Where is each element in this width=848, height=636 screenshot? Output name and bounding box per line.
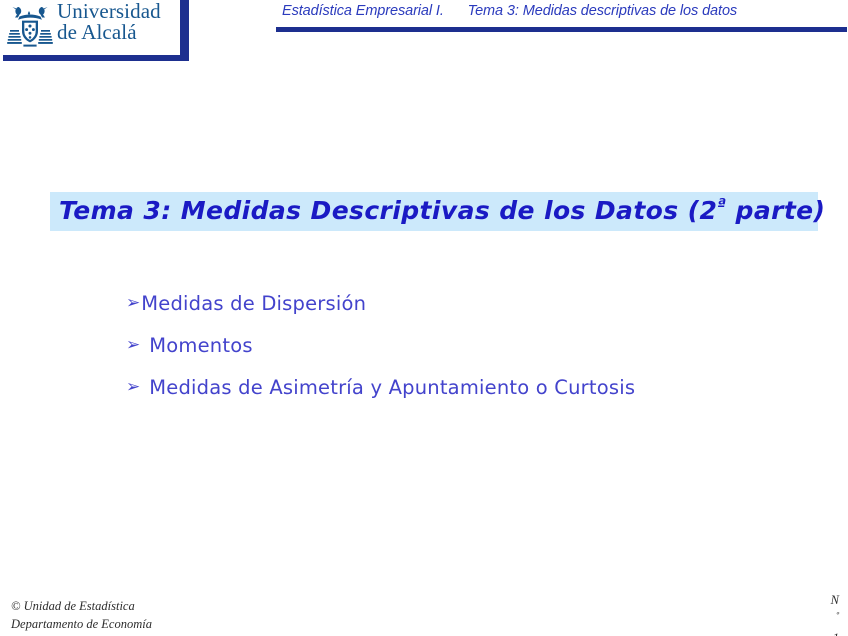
logo-accent-bar-horizontal [3, 55, 189, 61]
list-item: ➢ Medidas de Dispersión [126, 292, 786, 334]
list-item-label: Medidas de Asimetría y Apuntamiento o Cu… [140, 376, 635, 400]
university-name-line1: Universidad [57, 1, 183, 22]
arrow-bullet-icon: ➢ [126, 334, 140, 357]
footer-meta: Nº 1 2/7/2017 [795, 591, 839, 636]
header-topic-label: Tema 3: Medidas descriptivas de los dato… [468, 3, 737, 19]
university-name-line2: de Alcalá [57, 22, 183, 43]
list-item-label: Momentos [140, 334, 252, 358]
page-number-prefix: N [795, 591, 839, 610]
page-title-suffix: parte) [726, 196, 825, 225]
list-item: ➢ Medidas de Asimetría y Apuntamiento o … [126, 376, 786, 418]
page-number: Nº 1 [795, 591, 839, 636]
university-wordmark: Universidad de Alcalá [57, 1, 183, 43]
footer-credit: © Unidad de Estadística Departamento de … [11, 598, 152, 634]
university-crest-icon [5, 3, 55, 51]
page-number-ordinal: º [836, 610, 839, 620]
page-title-prefix: Tema 3: Medidas Descriptivas de los Dato… [59, 196, 717, 225]
arrow-bullet-icon: ➢ [126, 376, 140, 399]
list-item-label: Medidas de Dispersión [140, 292, 366, 316]
list-item: ➢ Momentos [126, 334, 786, 376]
header-course-label: Estadística Empresarial I. [282, 3, 444, 19]
page-number-value: 1 [795, 629, 839, 636]
header-divider-rule [276, 27, 847, 32]
footer-credit-line1: © Unidad de Estadística [11, 598, 152, 616]
page-title: Tema 3: Medidas Descriptivas de los Dato… [59, 196, 825, 225]
footer-credit-line2: Departamento de Economía [11, 616, 152, 634]
logo-accent-bar-vertical [180, 0, 189, 57]
arrow-bullet-icon: ➢ [126, 292, 140, 315]
slide-header: Estadística Empresarial I. Tema 3: Medid… [282, 3, 844, 19]
slide-title-banner: Tema 3: Medidas Descriptivas de los Dato… [50, 192, 818, 231]
university-logo: Universidad de Alcalá [3, 0, 188, 61]
slide-canvas: Universidad de Alcalá Estadística Empres… [0, 0, 848, 636]
agenda-list: ➢ Medidas de Dispersión ➢ Momentos ➢ Med… [126, 292, 786, 418]
